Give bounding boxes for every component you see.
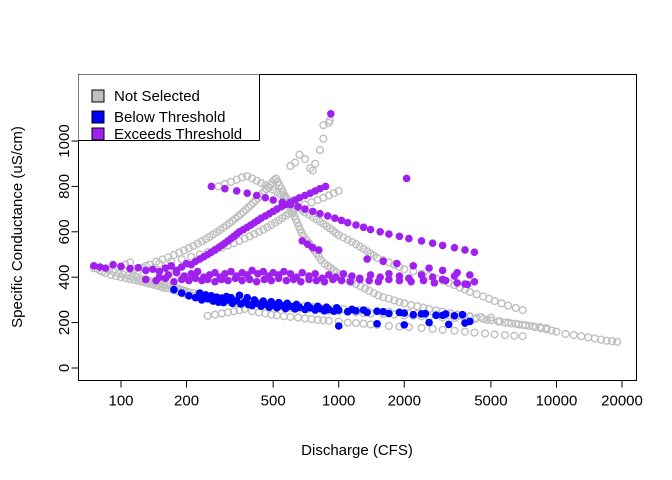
data-point: [363, 255, 371, 263]
data-point: [298, 269, 306, 277]
legend: Not Selected Below Threshold Exceeds Thr…: [79, 75, 260, 144]
x-tick-label: 5000: [474, 393, 507, 410]
legend-swatch-exceeds-threshold: [92, 128, 104, 140]
data-point: [407, 278, 415, 286]
data-point: [375, 278, 383, 286]
data-point: [409, 311, 417, 319]
data-point: [385, 230, 393, 238]
legend-swatch-below-threshold: [92, 111, 104, 123]
data-point: [360, 306, 368, 314]
data-point: [117, 263, 125, 271]
data-point: [451, 244, 459, 252]
data-point: [376, 228, 384, 236]
data-point: [327, 110, 335, 118]
data-point: [400, 309, 408, 317]
data-point: [218, 276, 226, 284]
data-point: [464, 281, 472, 289]
data-point: [379, 308, 387, 316]
data-point: [259, 297, 267, 305]
x-tick-label: 2000: [388, 393, 421, 410]
y-tick-label: 1000: [56, 124, 73, 157]
data-point: [142, 267, 150, 275]
data-point: [400, 321, 408, 329]
y-tick-label: 400: [56, 265, 73, 290]
data-point: [333, 304, 341, 312]
data-point: [335, 322, 343, 330]
data-point: [385, 276, 393, 284]
y-tick-label: 0: [56, 364, 73, 372]
data-point: [178, 276, 186, 284]
data-point: [178, 289, 186, 297]
data-point: [134, 264, 142, 272]
data-point: [290, 276, 298, 284]
data-point: [149, 265, 157, 273]
data-point: [360, 223, 368, 231]
data-point: [432, 312, 440, 320]
legend-item-exceeds-threshold[interactable]: Exceeds Threshold: [92, 126, 242, 143]
data-point: [185, 292, 193, 300]
data-point: [344, 219, 352, 227]
data-point: [313, 277, 321, 285]
data-point: [262, 194, 270, 202]
data-point: [162, 275, 170, 283]
data-point: [314, 302, 322, 310]
data-point: [445, 321, 453, 329]
data-point: [418, 310, 426, 318]
data-point: [348, 306, 356, 314]
y-tick-label: 800: [56, 174, 73, 199]
data-point: [329, 276, 337, 284]
data-point: [352, 221, 360, 229]
data-point: [152, 277, 160, 285]
data-point: [331, 214, 339, 222]
data-point: [451, 312, 459, 320]
data-point: [283, 300, 291, 308]
data-point: [170, 278, 178, 286]
data-point: [275, 299, 283, 307]
data-point: [379, 258, 387, 266]
data-point: [322, 183, 330, 191]
data-point: [420, 277, 428, 285]
data-point: [346, 278, 354, 286]
data-point: [356, 276, 364, 284]
data-point: [471, 278, 479, 286]
data-point: [126, 265, 134, 273]
data-point: [297, 278, 305, 286]
legend-label-below-threshold: Below Threshold: [114, 109, 225, 126]
data-point: [208, 183, 216, 191]
data-point: [280, 268, 288, 276]
data-point: [409, 262, 417, 270]
data-point: [425, 319, 433, 327]
y-tick-label: 200: [56, 310, 73, 335]
x-tick-label: 10000: [536, 393, 578, 410]
data-point: [232, 275, 240, 283]
data-point: [396, 233, 404, 241]
data-point: [453, 269, 461, 277]
data-point: [253, 278, 261, 286]
data-point: [142, 276, 150, 284]
data-point: [211, 278, 219, 286]
data-point: [340, 270, 348, 278]
data-point: [309, 208, 317, 216]
data-point: [316, 210, 324, 218]
data-point: [338, 277, 346, 285]
data-point: [173, 269, 181, 277]
data-point: [224, 277, 232, 285]
data-point: [321, 278, 329, 286]
x-tick-label: 20000: [601, 393, 643, 410]
data-point: [373, 320, 381, 328]
data-point: [204, 276, 212, 284]
data-point: [439, 312, 447, 320]
data-point: [293, 301, 301, 309]
data-point: [431, 279, 439, 287]
data-point: [442, 277, 450, 285]
scatter-plot-figure: 1002005001000200050001000020000 02004006…: [0, 0, 672, 480]
data-point: [185, 277, 193, 285]
legend-swatch-not-selected: [92, 90, 104, 102]
data-point: [367, 226, 375, 234]
data-point: [396, 277, 404, 285]
data-point: [269, 196, 277, 204]
x-tick-label: 500: [261, 393, 286, 410]
data-point: [243, 189, 251, 197]
data-point: [461, 246, 469, 254]
data-point: [236, 292, 244, 300]
data-point: [283, 277, 291, 285]
data-point: [233, 187, 241, 195]
data-point: [294, 203, 302, 211]
data-point: [170, 286, 178, 294]
data-point: [471, 248, 479, 256]
data-point: [275, 275, 283, 283]
data-point: [194, 268, 202, 276]
data-point: [439, 242, 447, 250]
data-point: [246, 276, 254, 284]
data-point: [253, 192, 261, 200]
data-point: [453, 279, 461, 287]
y-axis-label: Specific Conductance (uS/cm): [9, 126, 26, 328]
data-point: [221, 185, 229, 193]
x-axis-label: Discharge (CFS): [301, 442, 413, 459]
data-point: [311, 270, 319, 278]
data-point: [267, 277, 275, 285]
data-point: [243, 294, 251, 302]
data-point: [418, 237, 426, 245]
data-point: [315, 246, 323, 254]
data-point: [365, 277, 373, 285]
x-tick-label: 1000: [322, 393, 355, 410]
data-point: [305, 276, 313, 284]
data-point: [324, 212, 332, 220]
x-tick-label: 100: [108, 393, 133, 410]
data-point: [102, 264, 110, 272]
data-point: [227, 294, 235, 302]
data-point: [393, 260, 401, 268]
data-point: [109, 261, 117, 269]
data-point: [459, 311, 467, 319]
data-point: [461, 319, 469, 327]
data-point: [439, 267, 447, 275]
data-point: [301, 205, 309, 213]
data-point: [323, 303, 331, 311]
y-tick-label: 600: [56, 219, 73, 244]
data-point: [251, 296, 259, 304]
legend-label-not-selected: Not Selected: [114, 88, 200, 105]
data-point: [267, 298, 275, 306]
data-point: [260, 276, 268, 284]
data-point: [304, 302, 312, 310]
data-point: [287, 201, 295, 209]
data-point: [278, 198, 286, 206]
data-point: [238, 277, 246, 285]
data-point: [403, 175, 411, 183]
data-point: [405, 235, 413, 243]
data-point: [466, 271, 474, 279]
chart-canvas: 1002005001000200050001000020000 02004006…: [0, 0, 672, 480]
x-tick-label: 200: [174, 393, 199, 410]
data-point: [429, 239, 437, 247]
legend-label-exceeds-threshold: Exceeds Threshold: [114, 126, 242, 143]
data-point: [425, 264, 433, 272]
